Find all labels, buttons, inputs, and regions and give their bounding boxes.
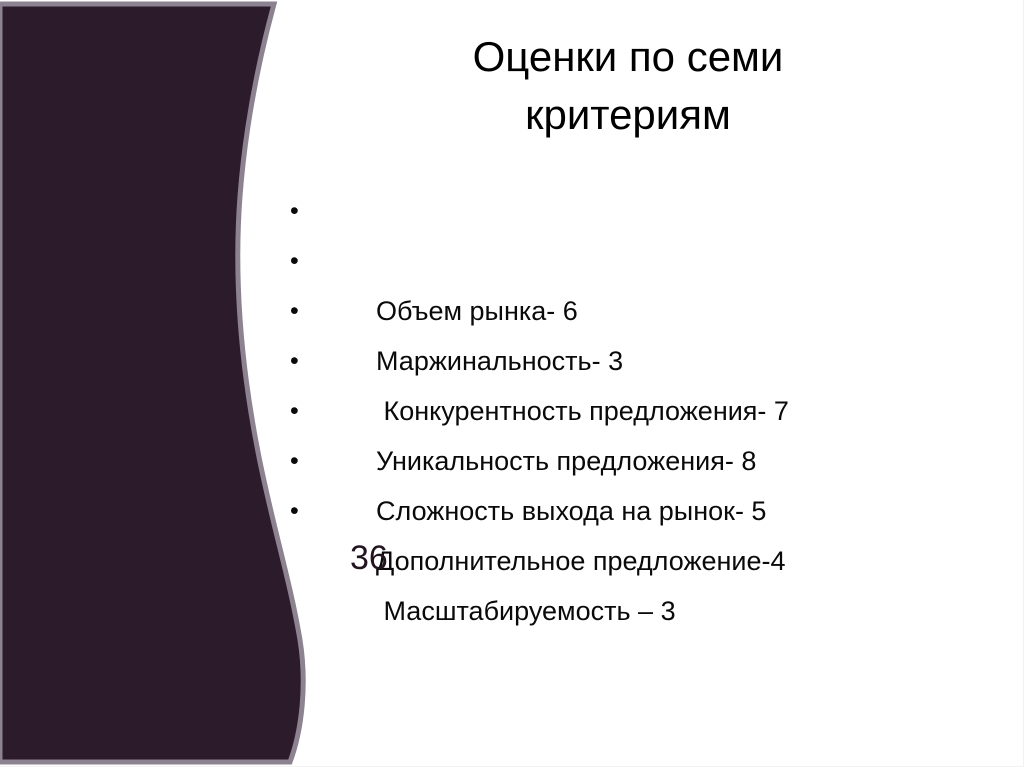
page-title-line-1: Оценки по семи	[330, 28, 926, 86]
bullet-icon: •	[290, 336, 306, 386]
page-title-line-2: критериям	[330, 86, 926, 144]
list-item: • Конкурентность предложения- 7	[288, 286, 988, 336]
bullet-icon: •	[290, 286, 306, 336]
decorative-curve-path	[0, 4, 303, 762]
list-item: • Уникальность предложения- 8	[288, 336, 988, 386]
list-item: • Сложность выхода на рынок- 5	[288, 386, 988, 436]
slide-canvas: Оценки по семи критериям • Объем рынка- …	[0, 0, 1024, 767]
bullet-icon: •	[290, 486, 306, 536]
total-score-value: 36	[350, 536, 388, 580]
list-item: • Объем рынка- 6	[288, 186, 988, 236]
page-title: Оценки по семи критериям	[330, 28, 926, 144]
bullet-icon: •	[290, 386, 306, 436]
bullet-icon: •	[290, 236, 306, 286]
criteria-list: • Объем рынка- 6 • Маржинальность- 3 • К…	[288, 186, 988, 536]
bullet-icon: •	[290, 436, 306, 486]
list-item-label: Дополнительное предложение-4	[376, 546, 786, 576]
list-item: • Маржинальность- 3	[288, 236, 988, 286]
bullet-icon: •	[290, 186, 306, 236]
list-item: • Дополнительное предложение-4	[288, 436, 988, 486]
list-item: • Масштабируемость – 3	[288, 486, 988, 536]
list-item-label: Масштабируемость – 3	[376, 596, 676, 626]
